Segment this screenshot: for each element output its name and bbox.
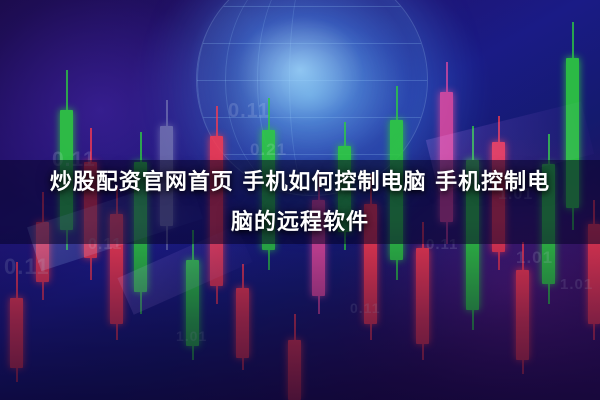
bottom-vignette: [0, 220, 600, 400]
watermark-number: 0.11: [228, 100, 270, 123]
image-canvas: 0.110.210.110.110.111.010.111.011.010.11…: [0, 0, 600, 400]
headline-text: 炒股配资官网首页 手机如何控制电脑 手机控制电 脑的远程软件: [0, 163, 600, 243]
headline-line-2: 脑的远程软件: [0, 203, 600, 243]
headline-line-1: 炒股配资官网首页 手机如何控制电脑 手机控制电: [0, 163, 600, 203]
watermark-number: 0.21: [250, 140, 287, 160]
